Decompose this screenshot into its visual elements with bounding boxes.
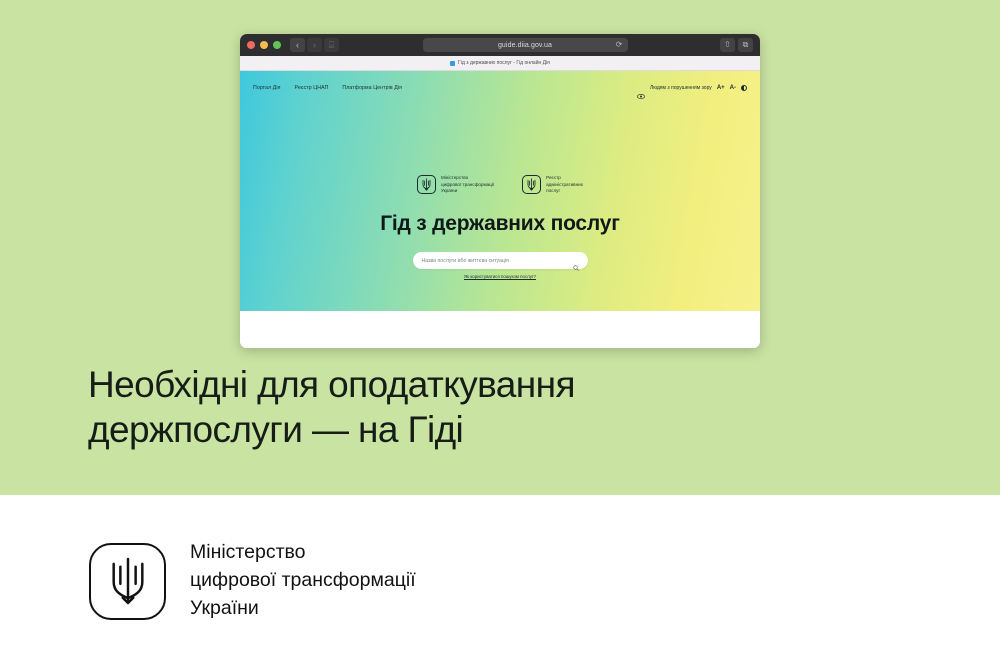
search-icon[interactable] — [573, 258, 579, 264]
logo-registry-label: Реєстр адміністративних послуг — [546, 175, 583, 195]
ministry-logos-row: Міністерство цифрової трансформації Укра… — [240, 175, 760, 195]
browser-tab-title: Гід з державних послуг - Гід онлайн Дія — [458, 60, 550, 66]
browser-toolbar: ‹ › ⌸ guide.diia.gov.ua ⟳ ⇧ ⧉ — [240, 34, 760, 56]
diia-favicon-icon — [450, 61, 455, 66]
reload-icon[interactable]: ⟳ — [616, 41, 623, 49]
minimize-window-button[interactable] — [260, 41, 268, 49]
increase-font-button[interactable]: A+ — [717, 85, 725, 91]
close-window-button[interactable] — [247, 41, 255, 49]
browser-tab-strip: Гід з державних послуг - Гід онлайн Дія — [240, 56, 760, 71]
decrease-font-button[interactable]: A- — [730, 85, 736, 91]
page-white-section — [240, 311, 760, 348]
forward-icon[interactable]: › — [307, 38, 322, 52]
sidebar-item-registry-cnap[interactable]: Реєстр ЦНАП — [295, 85, 329, 91]
browser-nav-buttons[interactable]: ‹ › ⌸ — [290, 38, 339, 52]
url-bar-container: guide.diia.gov.ua ⟳ — [339, 38, 711, 52]
ukraine-trident-icon — [89, 543, 166, 620]
footer-ministry-label: Міністерство цифрової трансформації Укра… — [190, 539, 416, 622]
back-icon[interactable]: ‹ — [290, 38, 305, 52]
ukraine-trident-icon — [417, 175, 436, 194]
browser-toolbar-right[interactable]: ⇧ ⧉ — [720, 38, 753, 52]
logo-registry-admin-services: Реєстр адміністративних послуг — [522, 175, 583, 195]
browser-tab[interactable]: Гід з державних послуг - Гід онлайн Дія — [450, 60, 550, 66]
url-text: guide.diia.gov.ua — [498, 42, 552, 49]
search-help-link[interactable]: Як користуватися пошуком послуг? — [464, 274, 536, 279]
search-section: Назва послуги або життєва ситуація Як ко… — [240, 252, 760, 279]
browser-window-mockup: ‹ › ⌸ guide.diia.gov.ua ⟳ ⇧ ⧉ Гід з держ… — [240, 34, 760, 348]
headline-text: Необхідні для оподаткування держпослуги … — [88, 362, 788, 452]
search-input[interactable]: Назва послуги або життєва ситуація — [413, 252, 588, 269]
site-nav-links: Портал Дія Реєстр ЦНАП Платформа Центрів… — [253, 85, 402, 91]
logo-ministry-digital-transformation: Міністерство цифрової трансформації Укра… — [417, 175, 494, 195]
address-bar[interactable]: guide.diia.gov.ua ⟳ — [423, 38, 628, 52]
page-title: Гід з державних послуг — [240, 212, 760, 236]
footer: Міністерство цифрової трансформації Укра… — [0, 495, 1000, 667]
maximize-window-button[interactable] — [273, 41, 281, 49]
search-placeholder-text: Назва послуги або життєва ситуація — [422, 258, 573, 264]
window-traffic-lights[interactable] — [247, 41, 281, 49]
sidebar-item-platform-centers[interactable]: Платформа Центрів Дія — [342, 85, 402, 91]
sidebar-item-portal-diia[interactable]: Портал Дія — [253, 85, 281, 91]
share-icon[interactable]: ⇧ — [720, 38, 735, 52]
tabs-overview-icon[interactable]: ⧉ — [738, 38, 753, 52]
hero-gradient-section: Портал Дія Реєстр ЦНАП Платформа Центрів… — [240, 71, 760, 311]
site-navigation: Портал Дія Реєстр ЦНАП Платформа Центрів… — [240, 81, 760, 95]
sidebar-toggle-icon[interactable]: ⌸ — [324, 38, 339, 52]
accessibility-controls: Людям з порушенням зору A+ A- — [637, 85, 747, 91]
ukraine-trident-icon — [522, 175, 541, 194]
eye-icon — [637, 86, 645, 91]
footer-branding: Міністерство цифрової трансформації Укра… — [89, 539, 416, 622]
logo-ministry-label: Міністерство цифрової трансформації Укра… — [441, 175, 494, 195]
accessibility-label[interactable]: Людям з порушенням зору — [650, 85, 712, 91]
contrast-toggle-icon[interactable] — [741, 85, 747, 91]
page-viewport: Портал Дія Реєстр ЦНАП Платформа Центрів… — [240, 71, 760, 348]
